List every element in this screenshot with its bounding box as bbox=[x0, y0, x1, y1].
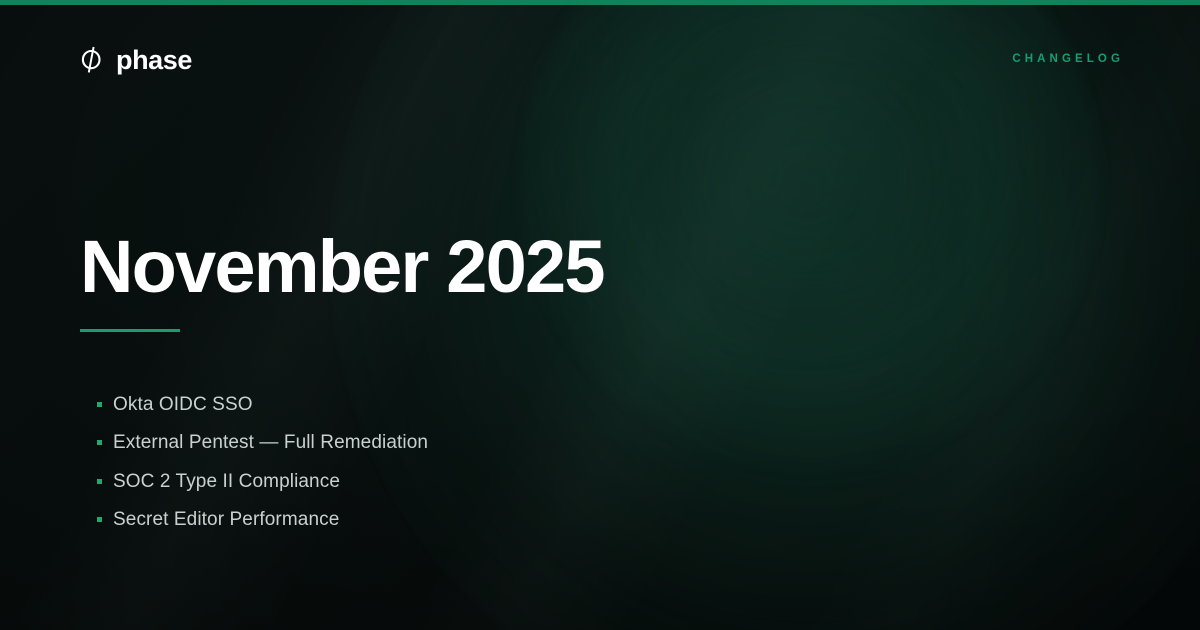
brand-name: phase bbox=[116, 47, 192, 74]
changelog-eyebrow: CHANGELOG bbox=[1012, 54, 1124, 66]
list-item-label: Secret Editor Performance bbox=[113, 510, 339, 529]
highlights-list: Okta OIDC SSO External Pentest — Full Re… bbox=[80, 385, 980, 539]
list-item-label: External Pentest — Full Remediation bbox=[113, 433, 428, 452]
page-title: November 2025 bbox=[80, 230, 980, 304]
bullet-square-icon bbox=[97, 402, 102, 407]
phi-logo-icon bbox=[76, 44, 108, 76]
main-content: November 2025 Okta OIDC SSO External Pen… bbox=[80, 230, 980, 539]
header: phase CHANGELOG bbox=[0, 5, 1200, 115]
list-item: SOC 2 Type II Compliance bbox=[80, 462, 980, 501]
bullet-square-icon bbox=[97, 479, 102, 484]
brand-logo[interactable]: phase bbox=[76, 44, 192, 76]
list-item: Okta OIDC SSO bbox=[80, 385, 980, 424]
list-item: External Pentest — Full Remediation bbox=[80, 424, 980, 463]
bullet-square-icon bbox=[97, 440, 102, 445]
bullet-square-icon bbox=[97, 517, 102, 522]
changelog-card: phase CHANGELOG November 2025 Okta OIDC … bbox=[0, 0, 1200, 630]
list-item-label: Okta OIDC SSO bbox=[113, 395, 253, 414]
list-item: Secret Editor Performance bbox=[80, 501, 980, 540]
list-item-label: SOC 2 Type II Compliance bbox=[113, 472, 340, 491]
title-underline-rule bbox=[80, 329, 180, 332]
